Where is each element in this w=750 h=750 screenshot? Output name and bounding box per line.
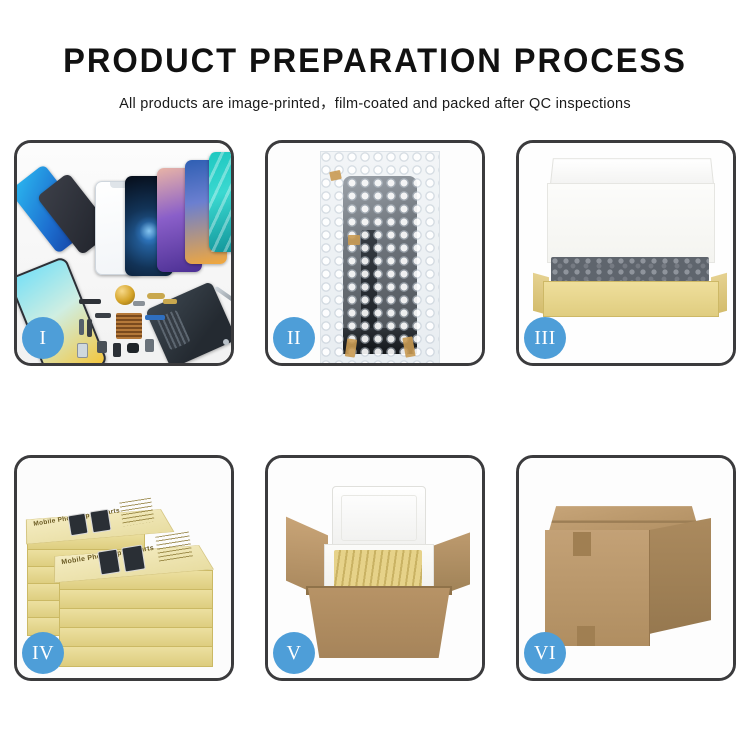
stacked-box-edge (59, 627, 213, 648)
step-panel-4[interactable]: Mobile Phone Spare Parts Mobile Phone Sp… (14, 455, 234, 681)
flex-cable-icon (147, 293, 165, 299)
logic-board-icon (116, 313, 142, 339)
page-title: PRODUCT PREPARATION PROCESS (15, 0, 735, 78)
box-print-screen-icon (67, 513, 88, 537)
blue-connector-icon (145, 315, 165, 320)
screen-assembly-icon (343, 176, 417, 354)
step-badge-1: I (22, 317, 64, 359)
step-panel-2[interactable]: II (265, 140, 485, 366)
page-subtitle: All products are image-printed，film-coat… (0, 78, 750, 113)
stacked-box-edge (59, 608, 213, 629)
carton-front-icon (545, 530, 650, 646)
step-panel-5[interactable]: V (265, 455, 485, 681)
carton-tape-icon (573, 532, 591, 556)
carton-side-icon (649, 518, 711, 634)
step-badge-5: V (273, 632, 315, 674)
box-interior-icon (547, 183, 715, 263)
stacked-box-edge (59, 646, 213, 667)
box-print-screen-icon (97, 549, 121, 576)
sim-tray-icon (145, 339, 154, 352)
carton-tape-icon (577, 626, 595, 646)
camera-module-icon (97, 341, 107, 353)
box-print-screen-icon (121, 545, 146, 573)
box-front-panel-icon (543, 281, 719, 317)
process-steps-grid: I II (14, 140, 736, 681)
step-panel-6[interactable]: VI (516, 455, 736, 681)
screw-icon (223, 339, 229, 345)
product-preparation-infographic: PRODUCT PREPARATION PROCESS All products… (0, 0, 750, 750)
loudspeaker-icon (127, 343, 139, 353)
step-badge-4: IV (22, 632, 64, 674)
sensor-icon (77, 343, 88, 358)
battery-connector-icon (79, 299, 101, 304)
vibrator-icon (113, 343, 121, 357)
bubble-wrap-bag-icon (320, 151, 440, 365)
bracket-icon (95, 313, 111, 318)
step-badge-3: III (524, 317, 566, 359)
screw-icon (231, 347, 234, 352)
side-button-icon (79, 319, 84, 335)
flex-ribbon-icon (361, 230, 377, 348)
stacked-box-edge (59, 589, 213, 610)
step-badge-2: II (273, 317, 315, 359)
box-print-spec-lines (119, 498, 154, 527)
step-panel-1[interactable]: I (14, 140, 234, 366)
flex-cable-small-icon (163, 299, 177, 304)
teal-display-icon (209, 152, 234, 252)
antenna-strip-icon (87, 319, 92, 337)
box-print-screen-icon (89, 509, 111, 534)
header: PRODUCT PREPARATION PROCESS All products… (0, 0, 750, 113)
step-badge-6: VI (524, 632, 566, 674)
box-print-spec-lines (155, 532, 193, 563)
foam-lid-icon (332, 486, 426, 550)
step-panel-3[interactable]: III (516, 140, 736, 366)
carton-front-icon (308, 588, 450, 658)
shield-plate-icon (133, 301, 145, 306)
gold-retail-boxes-icon (334, 550, 422, 588)
tape-icon (348, 235, 360, 245)
speaker-module-icon (115, 285, 135, 305)
